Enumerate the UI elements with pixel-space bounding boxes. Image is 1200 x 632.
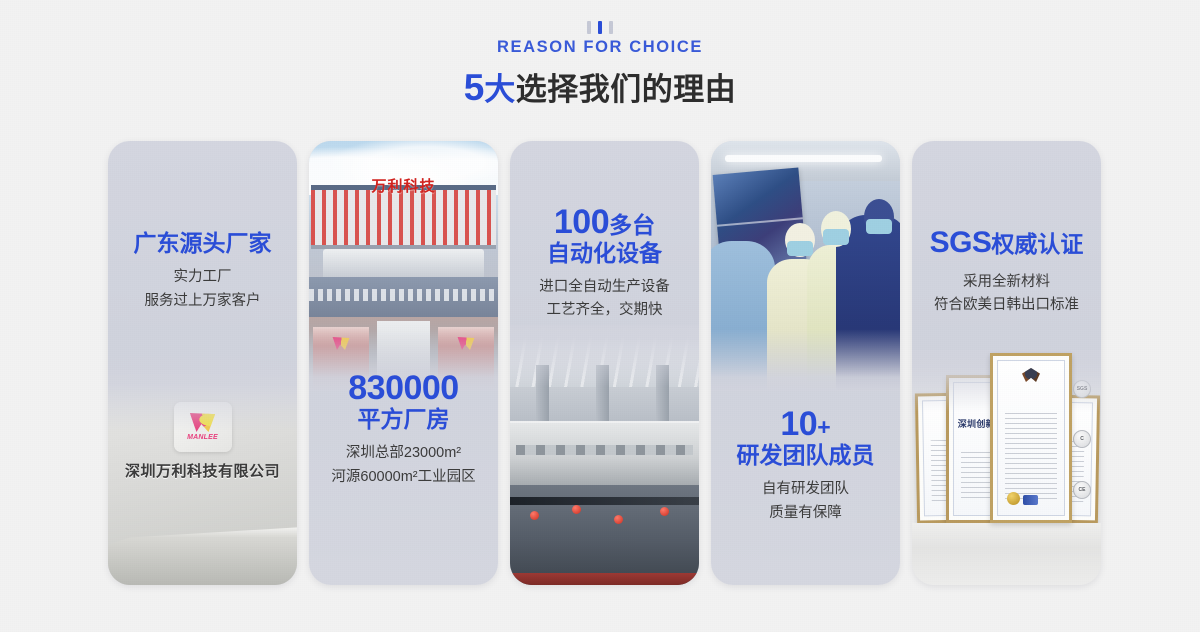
eagle-crest-icon: [1022, 368, 1040, 382]
card-5-title: SGS权威认证: [920, 225, 1093, 262]
ceiling-lights: [510, 325, 699, 387]
display-shelf: [912, 523, 1101, 585]
parking-lot: [309, 277, 498, 317]
card-3-subtext: 进口全自动生产设备 工艺齐全，交期快: [518, 276, 691, 323]
fda-stamp-icon: [1023, 495, 1038, 505]
headline-rest: 选择我们的理由: [516, 72, 737, 107]
factory-floor-photo: [510, 325, 699, 585]
certificate-frame-main: [990, 353, 1072, 523]
card-5-sub-line-2: 符合欧美日韩出口标准: [920, 294, 1093, 317]
card-1-title: 广东源头厂家: [116, 229, 289, 257]
card-2-text-block: 830000 平方厂房 深圳总部23000m² 河源60000m²工业园区: [309, 369, 498, 489]
wall-company-name: 深圳万利科技有限公司: [108, 460, 297, 481]
card-4-number: 10: [780, 405, 817, 443]
card-4-text-block: 10+ 研发团队成员 自有研发团队 质量有保障: [711, 405, 900, 525]
ce-badge-icon: CE: [1073, 481, 1091, 499]
building-sign-text: 万利科技: [309, 175, 498, 196]
card-1-subtext: 实力工厂 服务过上万家客户: [116, 266, 289, 313]
reception-desk: [108, 527, 297, 585]
card-plant-area[interactable]: 万利科技 830000 平方厂房 深圳总部23000m² 河源60000m²工业…: [309, 141, 498, 585]
machine-knob: [614, 515, 623, 524]
card-5-title-suffix: 权威认证: [991, 231, 1083, 257]
certificate-inner: [997, 360, 1065, 516]
manlee-logo-plaque: MANLEE: [174, 402, 232, 452]
card-5-text-block: SGS权威认证 采用全新材料 符合欧美日韩出口标准: [912, 225, 1101, 318]
manlee-wordmark: MANLEE: [187, 434, 218, 441]
card-2-title-line-2: 平方厂房: [358, 406, 450, 432]
card-5-sgs-label: SGS: [930, 226, 992, 259]
face-mask: [787, 241, 813, 256]
worker-blue-left: [711, 241, 775, 391]
card-3-number: 100: [554, 203, 609, 241]
card-3-number-suffix: 多台: [609, 212, 655, 238]
card-2-sub-line-2: 河源60000m²工业园区: [317, 466, 490, 489]
cleanroom-inspection-photo: [711, 141, 900, 391]
section-eyebrow: REASON FOR CHOICE: [0, 39, 1200, 56]
card-4-sub-line-1: 自有研发团队: [719, 478, 892, 501]
card-2-sub-line-1: 深圳总部23000m²: [317, 442, 490, 465]
card-2-subtext: 深圳总部23000m² 河源60000m²工业园区: [317, 442, 490, 489]
card-4-title-line-2: 研发团队成员: [737, 442, 875, 468]
factory-building-photo: 万利科技: [309, 141, 498, 391]
headline-number: 5: [464, 67, 485, 108]
face-mask: [823, 229, 849, 245]
card-4-title: 10+ 研发团队成员: [719, 405, 892, 469]
card-3-title-line-2: 自动化设备: [547, 240, 662, 266]
machine-base-rail: [510, 573, 699, 585]
reason-card-row: MANLEE 深圳万利科技有限公司 广东源头厂家 实力工厂 服务过上万家客户 万…: [108, 141, 1093, 585]
card-5-subtext: 采用全新材料 符合欧美日韩出口标准: [920, 271, 1093, 318]
machine-knob: [660, 507, 669, 516]
certificate-text-lines: [1005, 413, 1057, 499]
card-3-title: 100多台 自动化设备: [518, 203, 691, 267]
machine-knob: [572, 505, 581, 514]
card-3-sub-line-1: 进口全自动生产设备: [518, 276, 691, 299]
card-sgs[interactable]: 深圳创新企 SGS C CE R: [912, 141, 1101, 585]
card-1-text-block: 广东源头厂家 实力工厂 服务过上万家客户: [108, 229, 297, 313]
page-title: 5大选择我们的理由: [0, 67, 1200, 110]
card-rd-team[interactable]: 10+ 研发团队成员 自有研发团队 质量有保障: [711, 141, 900, 585]
face-mask: [866, 219, 892, 234]
reception-wall-photo: MANLEE 深圳万利科技有限公司: [108, 370, 297, 585]
card-4-subtext: 自有研发团队 质量有保障: [719, 478, 892, 525]
card-5-sub-line-1: 采用全新材料: [920, 271, 1093, 294]
tick-center-active: [598, 21, 602, 34]
block-logo-icon: [456, 337, 476, 350]
butterfly-logo-icon: [188, 413, 218, 432]
c-badge-icon: C: [1073, 430, 1091, 448]
headline-accent: 大: [484, 72, 516, 107]
card-origin-factory[interactable]: MANLEE 深圳万利科技有限公司 广东源头厂家 实力工厂 服务过上万家客户: [108, 141, 297, 585]
card-1-title-text: 广东源头厂家: [134, 230, 272, 256]
production-machine: [510, 421, 699, 485]
building-entrance: [323, 249, 484, 277]
certificates-photo: 深圳创新企 SGS C CE R: [912, 350, 1101, 585]
sgs-badge-icon: SGS: [1073, 380, 1091, 398]
card-1-sub-line-2: 服务过上万家客户: [116, 290, 289, 313]
card-2-number: 830000: [348, 369, 458, 407]
card-2-title: 830000 平方厂房: [317, 369, 490, 433]
gold-seal-icon: [1007, 492, 1020, 505]
machine-knob: [530, 511, 539, 520]
card-3-text-block: 100多台 自动化设备 进口全自动生产设备 工艺齐全，交期快: [510, 203, 699, 323]
card-1-sub-line-1: 实力工厂: [116, 266, 289, 289]
card-automation[interactable]: 100多台 自动化设备 进口全自动生产设备 工艺齐全，交期快: [510, 141, 699, 585]
tick-left: [587, 21, 591, 34]
section-header: REASON FOR CHOICE 5大选择我们的理由: [0, 0, 1200, 125]
header-tick-marks: [0, 0, 1200, 27]
tick-right: [609, 21, 613, 34]
card-4-number-suffix: +: [817, 414, 830, 440]
block-logo-icon: [331, 337, 351, 350]
card-4-sub-line-2: 质量有保障: [719, 502, 892, 525]
card-3-sub-line-2: 工艺齐全，交期快: [518, 299, 691, 322]
conveyor-rig: [510, 485, 699, 585]
